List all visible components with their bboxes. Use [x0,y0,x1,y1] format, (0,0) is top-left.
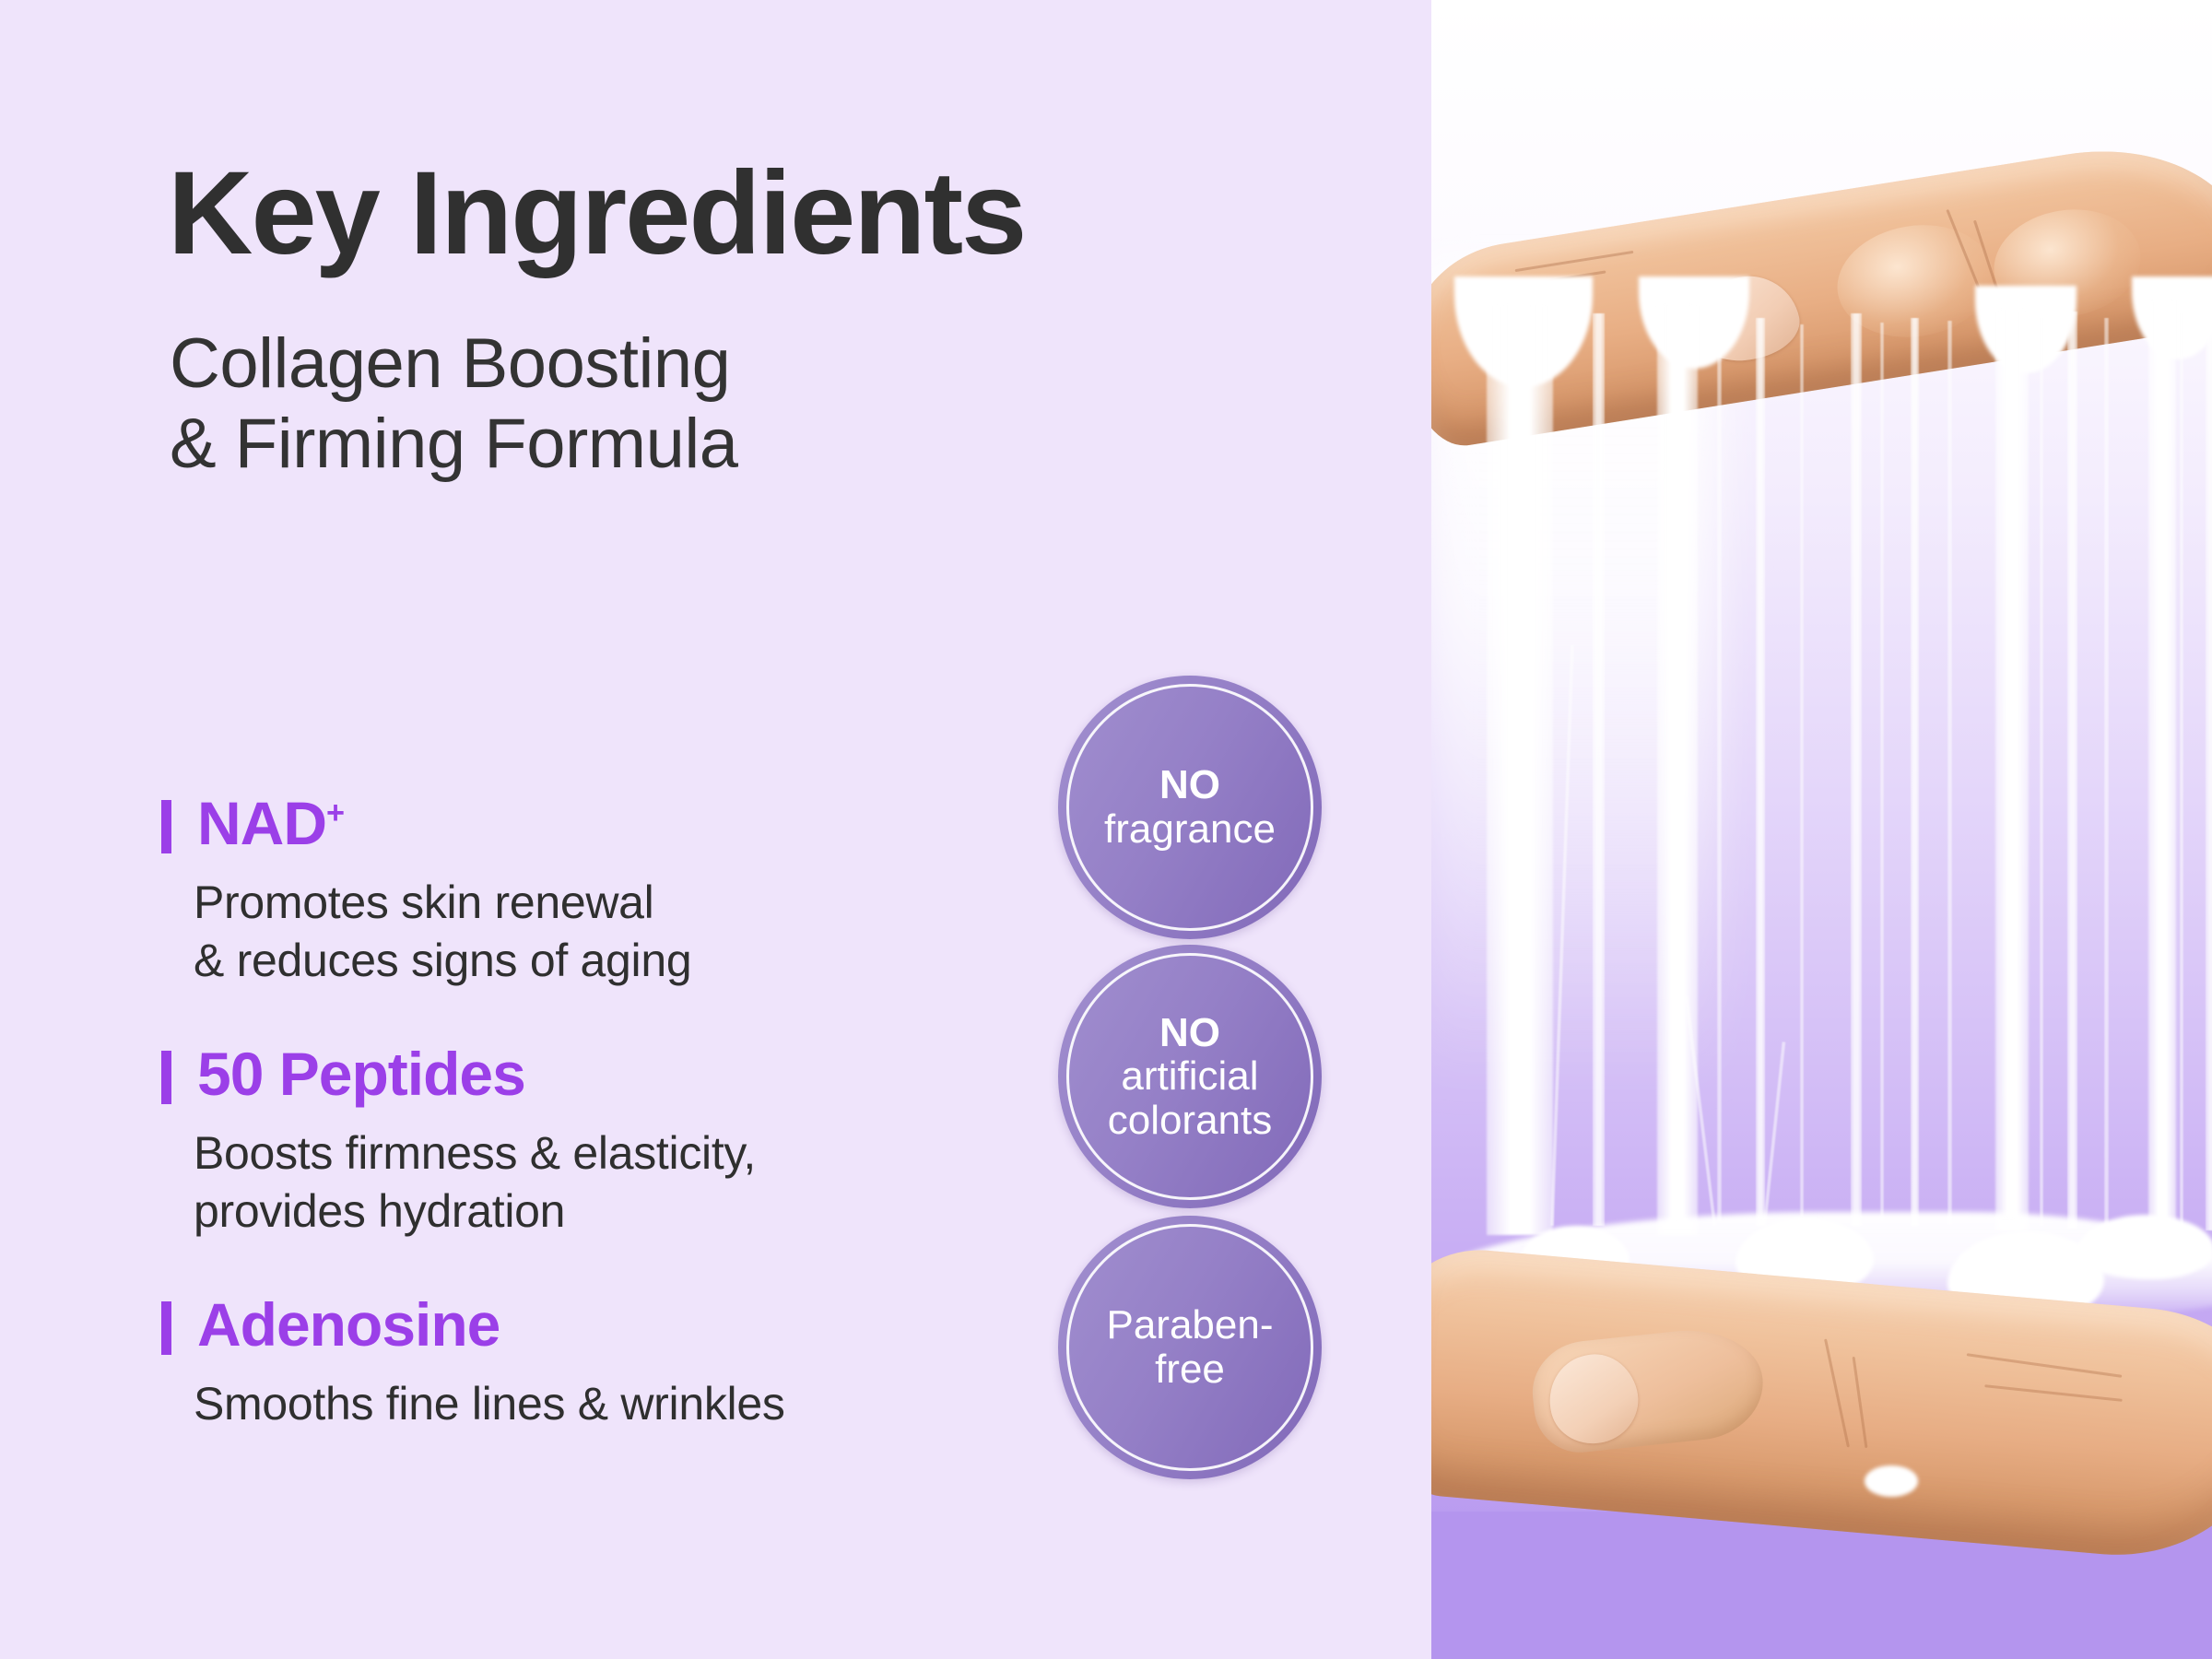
cream-strand [1756,318,1765,1226]
ingredient-name-row: NAD+ [0,793,1014,859]
ingredient-description: Smooths fine lines & wrinkles [0,1375,1014,1433]
ingredient-item: 50 Peptides Boosts firmness & elasticity… [0,1043,1014,1241]
claim-badge-line-2: artificial [1108,1054,1273,1099]
claim-badge-paraben-free: Paraben- free [1058,1216,1322,1479]
cream-strand [1851,313,1862,1226]
ingredient-name: 50 Peptides [197,1040,525,1108]
left-content-panel: Key Ingredients Collagen Boosting & Firm… [0,0,1431,1659]
ingredient-item: NAD+ Promotes skin renewal & reduces sig… [0,793,1014,990]
subtitle-line-1: Collagen Boosting [170,324,738,405]
ingredient-desc-line-1: Boosts firmness & elasticity, [194,1124,1014,1182]
subtitle-line-2: & Firming Formula [170,405,738,485]
hand-lower [1431,1253,2212,1585]
infographic-canvas: Key Ingredients Collagen Boosting & Firm… [0,0,2212,1659]
claim-badge-line-2: fragrance [1104,807,1276,852]
accent-bar-icon [161,1051,171,1104]
cream-filament [1880,323,1884,1221]
accent-bar-icon [161,800,171,853]
cream-strand [1911,318,1919,1226]
ingredient-name-row: Adenosine [0,1294,1014,1360]
cream-filament [1763,1041,1786,1225]
claim-badge-line-1: Paraben- [1106,1303,1273,1347]
ingredient-name-text: 50 Peptides [197,1040,525,1108]
cream-strand [1657,304,1698,1235]
ingredient-name: Adenosine [197,1290,500,1359]
ingredient-desc-line-1: Promotes skin renewal [194,874,1014,932]
claim-badge-no-artificial-colorants: NO artificial colorants [1058,945,1322,1208]
cream-filament [1717,323,1722,1221]
ingredient-desc-line-1: Smooths fine lines & wrinkles [194,1375,1014,1433]
claim-badge-text: NO artificial colorants [1095,1011,1286,1143]
accent-bar-icon [161,1301,171,1355]
cream-filament [2040,318,2043,1226]
ingredient-name: NAD+ [197,789,344,857]
ingredient-desc-line-2: & reduces signs of aging [194,932,1014,990]
product-texture-photo [1431,0,2212,1659]
claim-badge-text: Paraben- free [1093,1303,1286,1391]
ingredient-name-superscript: + [326,795,344,830]
ingredient-description: Boosts firmness & elasticity, provides h… [0,1124,1014,1241]
ingredient-list: NAD+ Promotes skin renewal & reduces sig… [0,793,1014,1487]
cream-filament [1800,324,1804,1223]
cream-strand [2067,312,2077,1229]
claim-badge-line-1: NO [1104,763,1276,807]
ingredient-item: Adenosine Smooths fine lines & wrinkles [0,1294,1014,1433]
ingredient-name-text: Adenosine [197,1290,500,1359]
cream-strand [1593,313,1605,1226]
ingredient-desc-line-2: provides hydration [194,1182,1014,1241]
ingredient-name-text: NAD [197,789,326,857]
claim-badge-line-2: free [1106,1347,1273,1392]
ingredient-description: Promotes skin renewal & reduces signs of… [0,874,1014,990]
cream-strand [2206,304,2212,1230]
page-title: Key Ingredients [168,155,1025,273]
claim-badge-line-1: NO [1108,1011,1273,1055]
cream-strand [1487,304,1553,1235]
claim-badge-line-3: colorants [1108,1099,1273,1143]
cream-filament [2104,318,2109,1226]
cream-strand [1995,309,2029,1230]
cream-droplet [1865,1465,1918,1497]
cream-filament [2180,313,2183,1226]
cream-strand [2148,300,2176,1230]
ingredient-name-row: 50 Peptides [0,1043,1014,1110]
page-subtitle: Collagen Boosting & Firming Formula [170,324,738,484]
cream-filament [1947,321,1952,1224]
claim-badge-no-fragrance: NO fragrance [1058,676,1322,939]
claim-badge-text: NO fragrance [1091,763,1288,851]
